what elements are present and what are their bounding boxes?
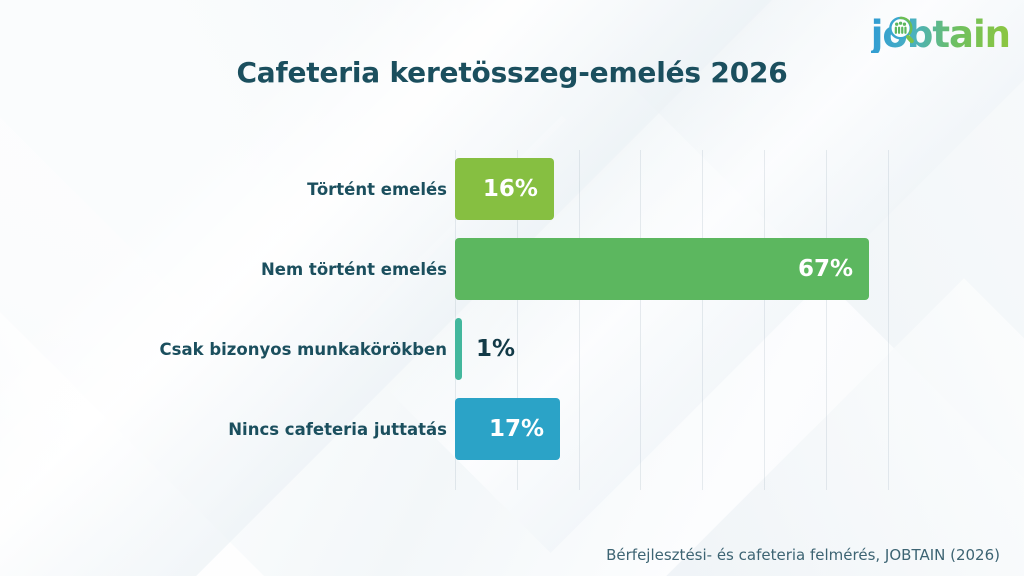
category-label: Történt emelés [27, 180, 447, 199]
category-label: Nem történt emelés [27, 260, 447, 279]
bar[interactable]: 17% [455, 398, 560, 460]
category-label: Csak bizonyos munkakörökben [27, 340, 447, 359]
category-label: Nincs cafeteria juttatás [27, 420, 447, 439]
source-caption: Bérfejlesztési- és cafeteria felmérés, J… [606, 546, 1000, 564]
magnifier-people-icon [887, 15, 918, 46]
bar-chart: Történt emelés16%Nem történt emelés67%Cs… [0, 150, 1024, 490]
chart-row: Csak bizonyos munkakörökben1% [0, 318, 1024, 380]
chart-bar-rows: Történt emelés16%Nem történt emelés67%Cs… [0, 150, 1024, 490]
jobtain-logo: jobtain [871, 12, 1010, 56]
chart-row: Nincs cafeteria juttatás17% [0, 398, 1024, 460]
bar-value-label: 17% [489, 416, 560, 442]
bar-value-label: 1% [462, 336, 515, 362]
chart-row: Történt emelés16% [0, 158, 1024, 220]
bar-value-label: 16% [483, 176, 554, 202]
bar[interactable]: 67% [455, 238, 869, 300]
bar[interactable]: 16% [455, 158, 554, 220]
page-title: Cafeteria keretösszeg-emelés 2026 [0, 56, 1024, 89]
bar-value-label: 67% [798, 256, 869, 282]
bar[interactable]: 1% [455, 318, 462, 380]
chart-row: Nem történt emelés67% [0, 238, 1024, 300]
